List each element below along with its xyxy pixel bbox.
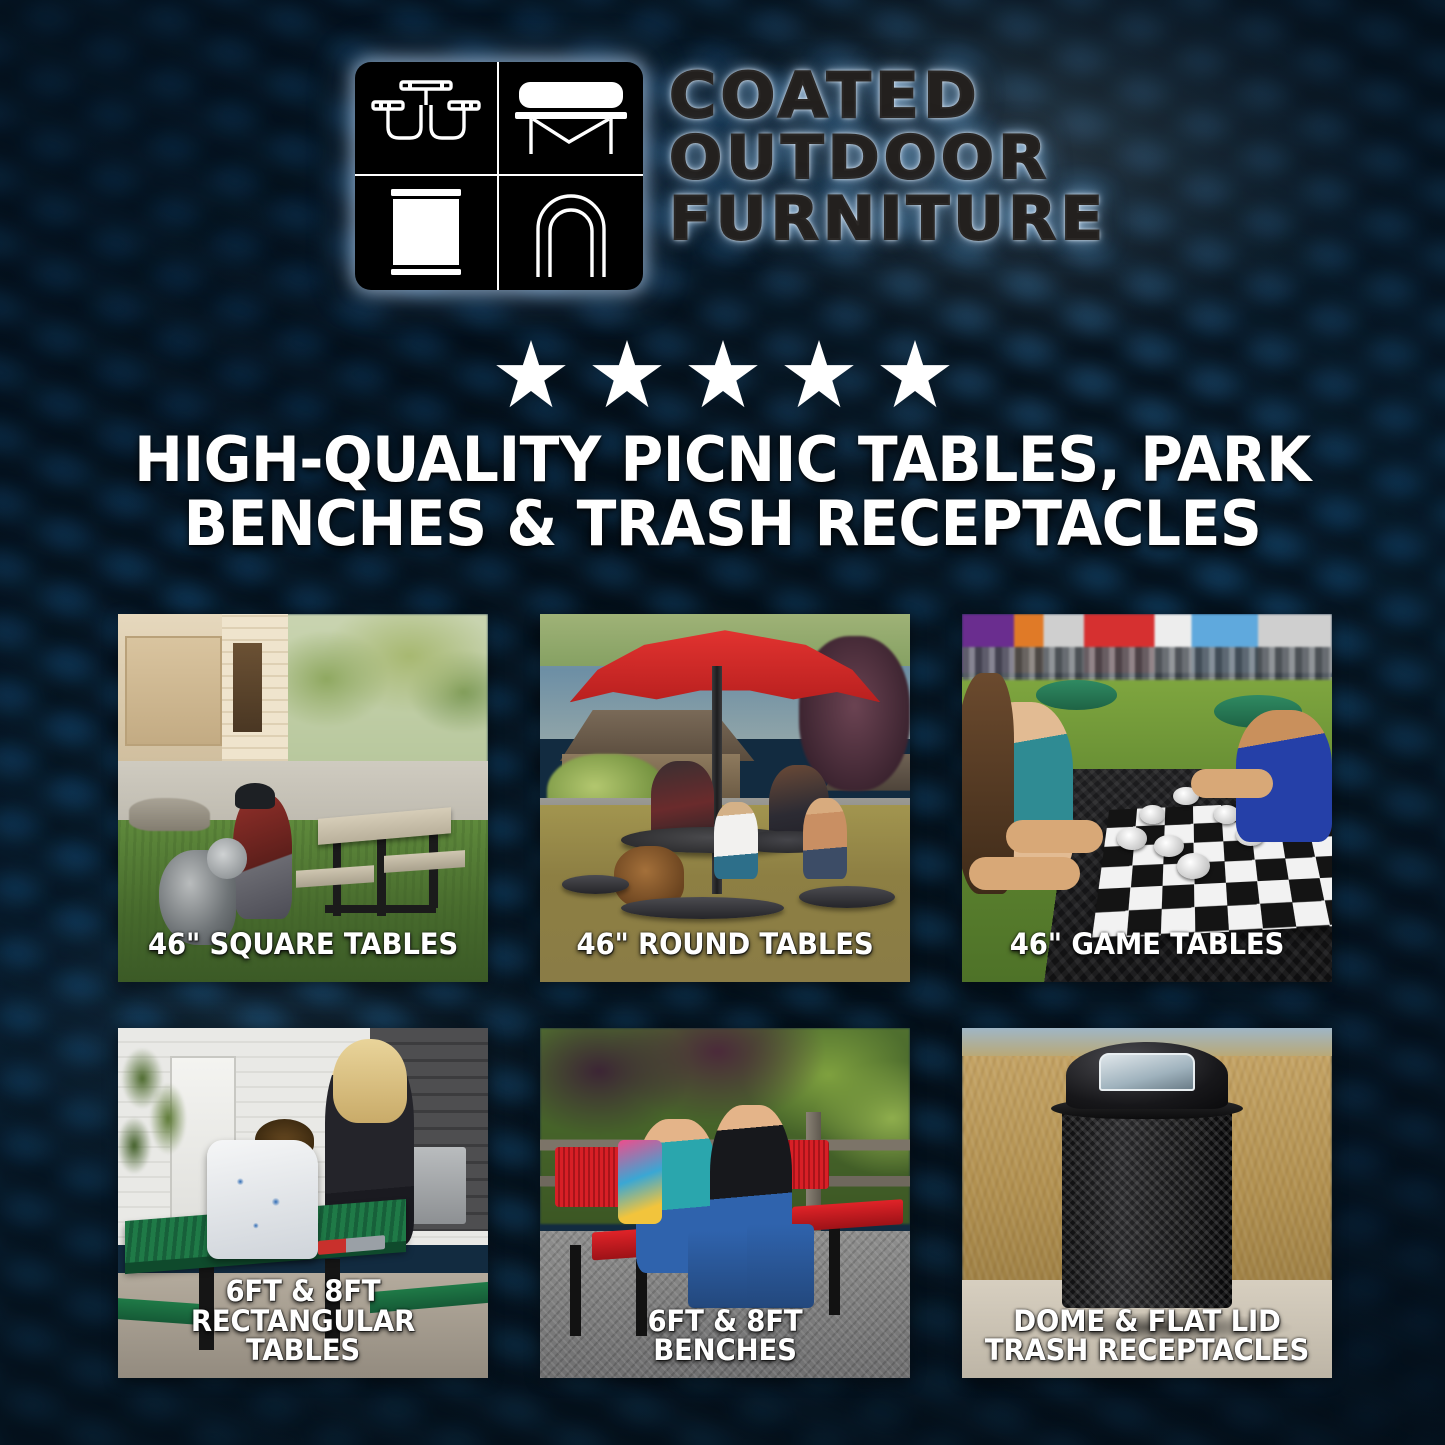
product-tile-benches[interactable]: 6FT & 8FT BENCHES [540, 1028, 910, 1378]
caption-line-1: 46" ROUND TABLES [555, 930, 895, 960]
tile-caption: 46" SQUARE TABLES [133, 930, 473, 960]
star-icon-3 [686, 338, 760, 410]
star-icon-2 [590, 338, 664, 410]
brand-logo: COATED OUTDOOR FURNITURE [0, 62, 1445, 290]
star-icon-5 [878, 338, 952, 410]
star-rating [0, 338, 1445, 410]
headline: HIGH-QUALITY PICNIC TABLES, PARK BENCHES… [43, 428, 1401, 556]
tile-caption: 46" GAME TABLES [977, 930, 1317, 960]
product-tile-game-tables[interactable]: 46" GAME TABLES [962, 614, 1332, 982]
product-tile-trash-receptacles[interactable]: DOME & FLAT LID TRASH RECEPTACLES [962, 1028, 1332, 1378]
product-tile-rectangular-tables[interactable]: 6FT & 8FT RECTANGULAR TABLES [118, 1028, 488, 1378]
caption-line-1: 6FT & 8FT [133, 1277, 473, 1307]
tile-caption: 6FT & 8FT RECTANGULAR TABLES [133, 1277, 473, 1366]
bike-rack-icon [499, 176, 643, 290]
caption-line-2: RECTANGULAR TABLES [133, 1307, 473, 1366]
star-icon-4 [782, 338, 856, 410]
headline-line-2: BENCHES & TRASH RECEPTACLES [43, 492, 1401, 556]
product-tile-square-tables[interactable]: 46" SQUARE TABLES [118, 614, 488, 982]
logo-mark [355, 62, 643, 290]
picnic-table-icon [355, 62, 499, 176]
brand-line-2: OUTDOOR [669, 129, 1107, 188]
brand-line-1: COATED [669, 66, 1107, 127]
caption-line-2: TRASH RECEPTACLES [977, 1336, 1317, 1366]
caption-line-1: 46" SQUARE TABLES [133, 930, 473, 960]
bench-icon [499, 62, 643, 176]
trash-receptacle-icon [355, 176, 499, 290]
caption-line-1: DOME & FLAT LID [977, 1307, 1317, 1337]
caption-line-2: BENCHES [555, 1336, 895, 1366]
brand-wordmark: COATED OUTDOOR FURNITURE [669, 62, 1090, 248]
tile-caption: 6FT & 8FT BENCHES [555, 1307, 895, 1366]
poster-content: COATED OUTDOOR FURNITURE HIGH-QUALITY PI… [0, 0, 1445, 1445]
tile-caption: DOME & FLAT LID TRASH RECEPTACLES [977, 1307, 1317, 1366]
product-grid: 46" SQUARE TABLES [118, 614, 1332, 1378]
caption-line-1: 6FT & 8FT [555, 1307, 895, 1337]
star-icon-1 [494, 338, 568, 410]
tile-caption: 46" ROUND TABLES [555, 930, 895, 960]
caption-line-1: 46" GAME TABLES [977, 930, 1317, 960]
product-tile-round-tables[interactable]: 46" ROUND TABLES [540, 614, 910, 982]
brand-line-3: FURNITURE [669, 190, 1107, 249]
headline-line-1: HIGH-QUALITY PICNIC TABLES, PARK [43, 428, 1401, 492]
